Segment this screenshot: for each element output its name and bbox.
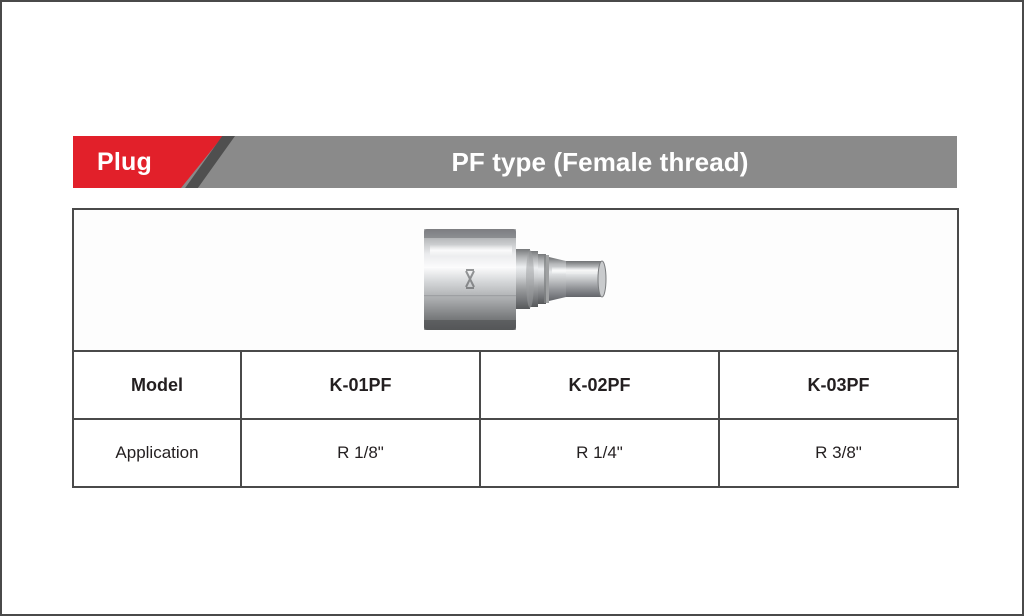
table-row-model: Model K-01PF K-02PF K-03PF xyxy=(73,351,958,419)
row-label-model: Model xyxy=(73,351,241,419)
specification-table: Model K-01PF K-02PF K-03PF Application R… xyxy=(72,208,959,488)
application-value-1: R 1/8" xyxy=(241,419,480,487)
section-banner: Plug PF type (Female thread) xyxy=(73,136,957,188)
model-value-3: K-03PF xyxy=(719,351,958,419)
table-row-product-image xyxy=(73,209,958,351)
table-row-application: Application R 1/8" R 1/4" R 3/8" xyxy=(73,419,958,487)
model-value-2: K-02PF xyxy=(480,351,719,419)
banner-category-label: Plug xyxy=(97,136,152,188)
application-value-2: R 1/4" xyxy=(480,419,719,487)
quick-coupler-plug-photo xyxy=(416,221,616,339)
application-value-3: R 3/8" xyxy=(719,419,958,487)
spec-sheet-page: Plug PF type (Female thread) xyxy=(0,0,1024,616)
row-label-application: Application xyxy=(73,419,241,487)
banner-title: PF type (Female thread) xyxy=(243,136,957,188)
product-image-cell xyxy=(73,209,958,351)
model-value-1: K-01PF xyxy=(241,351,480,419)
